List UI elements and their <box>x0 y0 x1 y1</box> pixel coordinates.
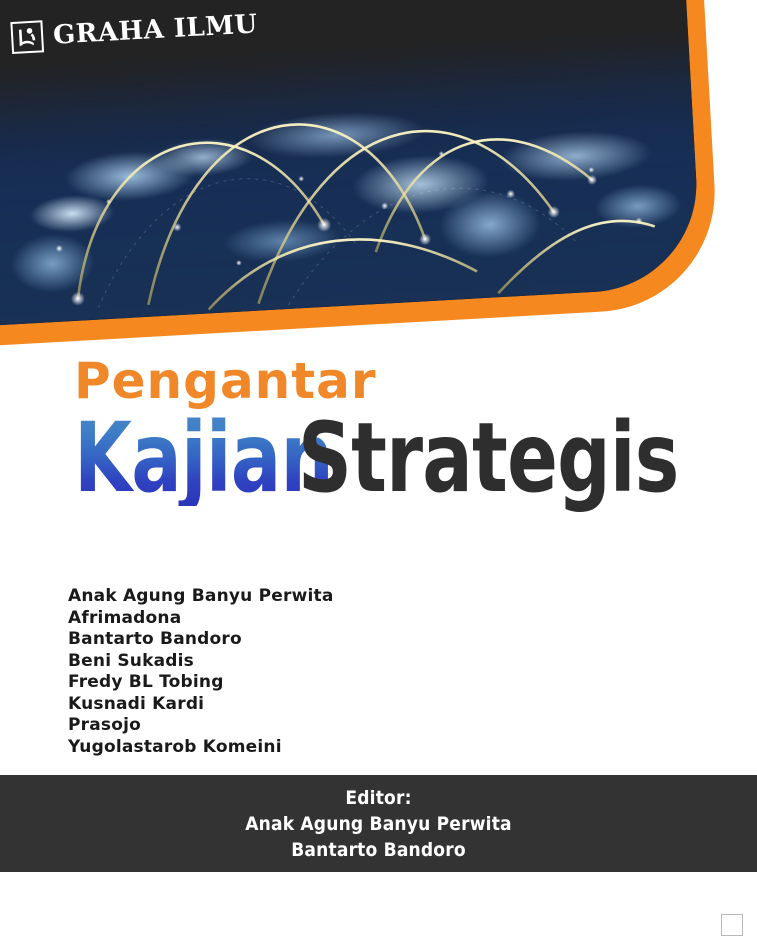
author-list: Anak Agung Banyu Perwita Afrimadona Bant… <box>68 586 334 758</box>
list-item: Afrimadona <box>68 608 334 630</box>
title-block: Pengantar KajianStrategis <box>74 356 714 506</box>
title-pre-word: Pengantar <box>74 356 714 406</box>
title-word-strategis: Strategis <box>298 410 679 506</box>
list-item: Fredy BL Tobing <box>68 672 334 694</box>
list-item: Anak Agung Banyu Perwita <box>68 586 334 608</box>
editor-bar: Editor: Anak Agung Banyu Perwita Bantart… <box>0 775 757 872</box>
reading-person-icon <box>12 22 42 52</box>
editor-label: Editor: <box>38 785 719 811</box>
title-word-kajian: Kajian <box>74 410 333 506</box>
book-cover: GRAHA ILMU Pengantar KajianStrategis Ana… <box>0 0 757 950</box>
corner-registration-mark <box>721 914 743 936</box>
artwork-panel: GRAHA ILMU <box>0 0 702 327</box>
network-arcs-icon <box>0 0 702 327</box>
title-main: KajianStrategis <box>74 410 714 506</box>
list-item: Beni Sukadis <box>68 651 334 673</box>
list-item: Yugolastarob Komeini <box>68 737 334 759</box>
list-item: Prasojo <box>68 715 334 737</box>
list-item: Kusnadi Kardi <box>68 694 334 716</box>
list-item: Bantarto Bandoro <box>68 629 334 651</box>
graha-ilmu-emblem-icon <box>10 20 44 54</box>
editor-name: Anak Agung Banyu Perwita <box>38 811 719 837</box>
editor-name: Bantarto Bandoro <box>38 837 719 863</box>
